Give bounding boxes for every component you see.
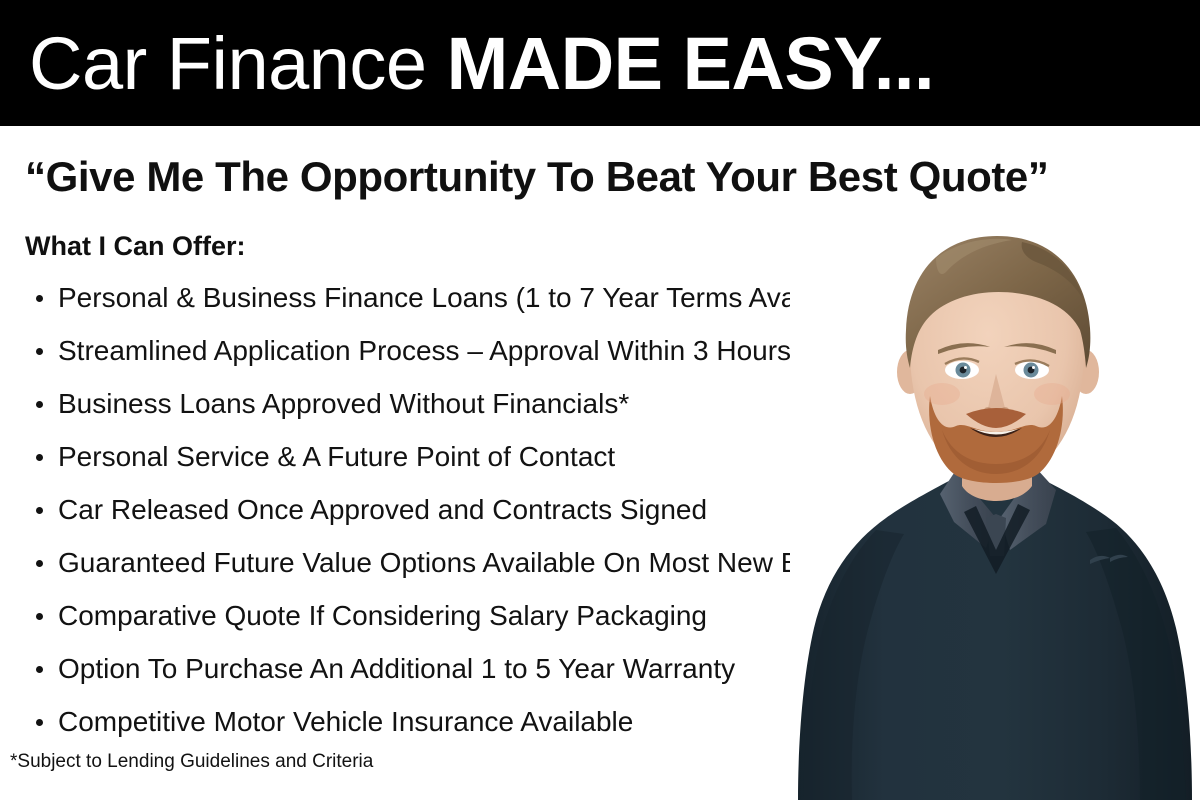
page-title-bold: MADE EASY... bbox=[447, 22, 934, 105]
bullet-dot-icon bbox=[36, 560, 43, 567]
bullet-dot-icon bbox=[36, 613, 43, 620]
list-item-label: Car Released Once Approved and Contracts… bbox=[58, 494, 707, 525]
offer-subheading: What I Can Offer: bbox=[25, 229, 246, 263]
header-band: Car Finance MADE EASY... bbox=[0, 0, 1200, 126]
list-item-label: Option To Purchase An Additional 1 to 5 … bbox=[58, 653, 735, 684]
bullet-dot-icon bbox=[36, 719, 43, 726]
headline-quote: “Give Me The Opportunity To Beat Your Be… bbox=[25, 152, 1175, 202]
bullet-dot-icon bbox=[36, 454, 43, 461]
poster-root: Car Finance MADE EASY... “Give Me The Op… bbox=[0, 0, 1200, 800]
bullet-dot-icon bbox=[36, 666, 43, 673]
portrait-illustration bbox=[790, 218, 1200, 800]
bullet-dot-icon bbox=[36, 507, 43, 514]
list-item-label: Personal & Business Finance Loans (1 to … bbox=[58, 282, 871, 313]
bullet-dot-icon bbox=[36, 401, 43, 408]
bullet-dot-icon bbox=[36, 348, 43, 355]
portrait-photo bbox=[790, 218, 1200, 800]
list-item-label: Comparative Quote If Considering Salary … bbox=[58, 600, 707, 631]
list-item-label: Competitive Motor Vehicle Insurance Avai… bbox=[58, 706, 633, 737]
list-item-label: Streamlined Application Process – Approv… bbox=[58, 335, 802, 366]
list-item-label: Business Loans Approved Without Financia… bbox=[58, 388, 629, 419]
footnote-disclaimer: *Subject to Lending Guidelines and Crite… bbox=[10, 750, 373, 774]
list-item-label: Guaranteed Future Value Options Availabl… bbox=[58, 547, 869, 578]
list-item-label: Personal Service & A Future Point of Con… bbox=[58, 441, 615, 472]
page-title-light: Car Finance bbox=[29, 22, 447, 105]
page-title: Car Finance MADE EASY... bbox=[29, 18, 934, 110]
bullet-dot-icon bbox=[36, 295, 43, 302]
